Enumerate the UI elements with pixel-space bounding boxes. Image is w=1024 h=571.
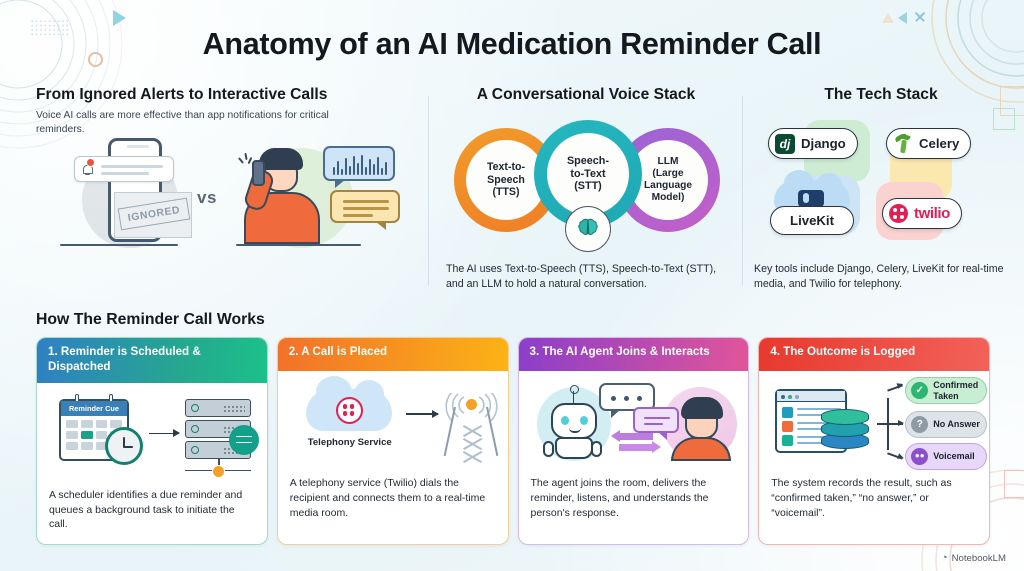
question-icon: ? — [911, 416, 928, 433]
calendar-header-label: Reminder Cue — [61, 401, 127, 416]
step-card-1[interactable]: 1. Reminder is Scheduled & Dispatched Re… — [36, 337, 268, 545]
triangle-outline-decoration — [882, 13, 894, 23]
window-tile — [782, 421, 793, 432]
check-icon: ✓ — [911, 382, 928, 399]
server-unit — [185, 399, 251, 417]
tech-pill-twilio-label: twilio — [914, 205, 950, 222]
step-card-3-body: The agent joins the room, delivers the r… — [519, 476, 749, 532]
x-mark-decoration — [914, 11, 926, 23]
outcome-voicemail: ●● Voicemail — [905, 443, 987, 470]
ring-sparkle-icon — [239, 152, 251, 166]
panel-right-footnote: Key tools include Django, Celery, LiveKi… — [754, 262, 1006, 293]
robot-eye — [561, 416, 569, 425]
outcome-confirmed-taken-label: Confirmed Taken — [933, 380, 986, 400]
watermark: ◔ NotebookLM — [941, 552, 1006, 564]
tech-pill-celery[interactable]: Celery — [886, 128, 971, 159]
venn-circle-stt-label: Speech-to-Text(STT) — [547, 133, 629, 215]
robot-body — [555, 437, 593, 459]
notebooklm-icon: ◔ — [941, 552, 948, 564]
step-card-4-title: 4. The Outcome is Logged — [759, 338, 989, 371]
database-icon — [821, 409, 869, 455]
cell-tower-icon — [442, 393, 498, 457]
voice-waveform-bubble — [323, 146, 395, 181]
step-card-1-title: 1. Reminder is Scheduled & Dispatched — [37, 338, 267, 383]
step-card-3-title: 3. The AI Agent Joins & Interacts — [519, 338, 749, 371]
ignored-stamp: IGNORED — [118, 198, 191, 231]
step-card-4[interactable]: 4. The Outcome is Logged — [758, 337, 990, 545]
step-card-4-illustration: ✓ Confirmed Taken ? No Answer ●● Voicema… — [759, 371, 989, 476]
floor-line-left — [60, 244, 178, 246]
notification-line — [101, 165, 163, 168]
twilio-logo-icon — [336, 397, 363, 424]
arrow-left — [619, 433, 653, 440]
phone-notch — [127, 145, 149, 148]
tower-truss — [462, 425, 480, 437]
step-card-3[interactable]: 3. The AI Agent Joins & Interacts Th — [518, 337, 750, 545]
telephony-service-label: Telephony Service — [296, 437, 404, 448]
outcome-no-answer: ? No Answer — [905, 411, 987, 438]
panel-left-heading: From Ignored Alerts to Interactive Calls — [36, 86, 421, 104]
panel-voice-stack: A Conversational Voice Stack Text-to-Spe… — [440, 86, 732, 301]
illustration-ignored-vs-call: IGNORED vs — [36, 134, 421, 254]
step-card-1-illustration: Reminder Cue — [37, 383, 267, 488]
panel-divider-2 — [742, 96, 743, 286]
step-card-2[interactable]: 2. A Call is Placed Telephony Service — [277, 337, 509, 545]
tech-pill-django[interactable]: dj Django — [768, 128, 858, 159]
branch-arrow — [887, 423, 903, 425]
twilio-logo-icon — [889, 204, 908, 223]
arrow-right — [619, 444, 653, 451]
tower-beacon-dot — [466, 399, 477, 410]
tech-stack-logos: dj Django Celery LiveKit twilio — [758, 114, 1004, 256]
triangle-left-decoration — [898, 12, 907, 24]
panel-right-heading: The Tech Stack — [752, 86, 1010, 104]
voicemail-icon: ●● — [911, 448, 928, 465]
step-card-2-title: 2. A Call is Placed — [278, 338, 508, 371]
clock-icon — [105, 427, 143, 465]
branch-arrow — [887, 384, 903, 391]
two-way-exchange-arrows-icon — [613, 431, 661, 455]
bubble-text-line — [343, 214, 373, 217]
panel-ignored-vs-calls: From Ignored Alerts to Interactive Calls… — [36, 86, 421, 301]
brain-icon — [565, 206, 611, 252]
robot-head-icon — [551, 403, 597, 439]
top-panels: From Ignored Alerts to Interactive Calls… — [0, 86, 1024, 301]
square-red-decoration — [1004, 470, 1024, 498]
person-hair — [681, 397, 723, 419]
panel-middle-footnote: The AI uses Text-to-Speech (TTS), Speech… — [446, 262, 728, 293]
floor-line-right — [236, 244, 361, 246]
robot-mouth — [569, 428, 581, 433]
notification-line — [101, 172, 149, 175]
page-title: Anatomy of an AI Medication Reminder Cal… — [0, 27, 1024, 62]
robot-eye — [580, 416, 588, 425]
step-card-3-illustration — [519, 371, 749, 476]
window-tile — [782, 435, 793, 446]
brain-glyph — [576, 217, 600, 241]
database-layer — [821, 409, 869, 425]
venn-diagram: Text-to-Speech(TTS) LLM(LargeLanguageMod… — [448, 116, 724, 256]
person-hair — [259, 148, 303, 170]
tech-pill-django-label: Django — [801, 136, 846, 151]
tech-pill-livekit[interactable]: LiveKit — [770, 180, 854, 236]
person-reply-bubble — [633, 407, 679, 433]
outcome-no-answer-label: No Answer — [933, 419, 980, 429]
reply-text-bubble — [330, 190, 400, 223]
flow-arrow — [149, 433, 179, 435]
bubble-text-line — [343, 207, 389, 210]
tech-pill-twilio[interactable]: twilio — [882, 198, 962, 229]
bubble-text-line — [343, 200, 389, 203]
vs-label: vs — [197, 188, 217, 208]
tech-pill-livekit-label: LiveKit — [770, 206, 854, 235]
panel-middle-heading: A Conversational Voice Stack — [440, 86, 732, 104]
outcome-confirmed-taken: ✓ Confirmed Taken — [905, 377, 987, 404]
django-logo-icon: dj — [775, 134, 795, 154]
ignored-message-card: IGNORED — [114, 192, 192, 238]
video-camera-icon — [798, 190, 824, 207]
robot-arm — [543, 441, 554, 457]
flow-arrow — [406, 413, 438, 415]
step-cards: 1. Reminder is Scheduled & Dispatched Re… — [36, 337, 990, 545]
server-node-dot — [212, 465, 225, 478]
server-stack-icon — [185, 399, 251, 471]
triangle-play-decoration — [113, 10, 126, 26]
phone-handset-icon — [252, 160, 265, 186]
tower-truss — [462, 438, 480, 450]
window-tile — [782, 407, 793, 418]
notification-card — [74, 156, 174, 182]
step-card-2-illustration: Telephony Service — [278, 371, 508, 476]
step-card-2-body: A telephony service (Twilio) dials the r… — [278, 476, 508, 532]
celery-icon — [893, 134, 913, 154]
tower-mast — [454, 407, 488, 455]
window-titlebar — [777, 391, 845, 402]
tower-truss — [462, 451, 480, 463]
panel-tech-stack: The Tech Stack dj Django Celery LiveKit — [752, 86, 1010, 301]
watermark-label: NotebookLM — [952, 553, 1006, 564]
section-heading: How The Reminder Call Works — [36, 311, 265, 329]
panel-divider-1 — [428, 96, 429, 286]
tech-pill-celery-label: Celery — [919, 136, 959, 151]
step-card-4-body: The system records the result, such as “… — [759, 476, 989, 532]
step-card-1-body: A scheduler identifies a due reminder an… — [37, 488, 267, 544]
notification-badge — [86, 158, 95, 167]
outcome-voicemail-label: Voicemail — [933, 451, 974, 461]
sync-icon — [229, 425, 259, 455]
waveform-icon — [333, 155, 389, 175]
